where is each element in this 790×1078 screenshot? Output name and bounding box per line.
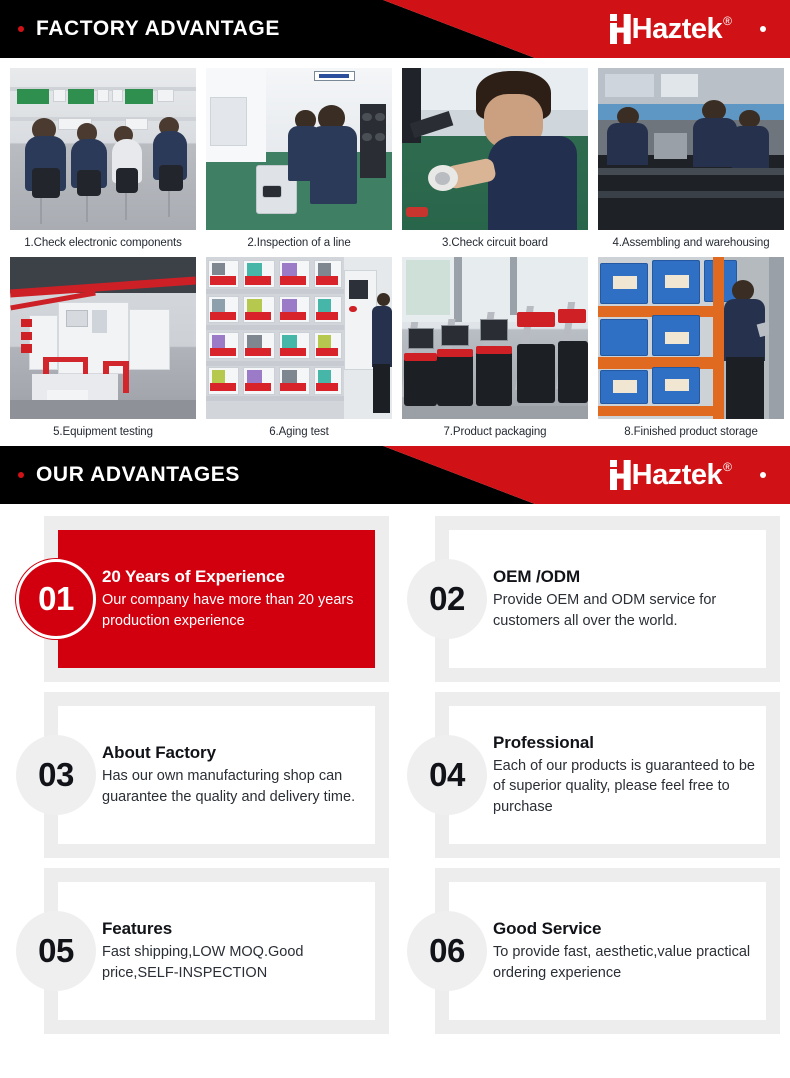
advantage-card-04[interactable]: 04 Professional Each of our products is … [401, 692, 780, 858]
photo-caption: 3.Check circuit board [402, 230, 588, 257]
photo-caption: 6.Aging test [206, 419, 392, 446]
card-text: 20 Years of Experience Our company have … [102, 567, 374, 631]
card-description: Each of our products is guaranteed to be… [493, 756, 765, 818]
advantage-number-badge: 03 [16, 735, 96, 815]
card-description: To provide fast, aesthetic,value practic… [493, 942, 765, 983]
card-title: Good Service [493, 919, 765, 939]
photo-cell: 5.Equipment testing [10, 257, 196, 446]
registered-mark-icon: ® [723, 15, 732, 27]
card-text: Professional Each of our products is gua… [493, 733, 765, 818]
card-text: Features Fast shipping,LOW MOQ.Good pric… [102, 919, 374, 983]
bullet-right-icon [760, 472, 766, 478]
card-text: Good Service To provide fast, aesthetic,… [493, 919, 765, 983]
page-title: FACTORY ADVANTAGE [36, 17, 280, 41]
logo-dot-icon [610, 14, 617, 21]
photo-row: 5.Equipment testing [10, 257, 780, 446]
photo-circuit-board-check[interactable] [402, 68, 588, 230]
advantage-number-badge: 06 [407, 911, 487, 991]
photo-cell: 2.Inspection of a line [206, 68, 392, 257]
card-title: OEM /ODM [493, 567, 765, 587]
card-description: Provide OEM and ODM service for customer… [493, 590, 765, 631]
photo-cell: 7.Product packaging [402, 257, 588, 446]
photo-caption: 7.Product packaging [402, 419, 588, 446]
photo-electronics-bench[interactable] [10, 68, 196, 230]
advantage-number-badge: 02 [407, 559, 487, 639]
haztek-logo: Haztek ® [610, 460, 732, 490]
advantage-number-badge: 04 [407, 735, 487, 815]
factory-advantage-page: FACTORY ADVANTAGE Haztek ® [0, 0, 790, 1078]
card-text: OEM /ODM Provide OEM and ODM service for… [493, 567, 765, 631]
photo-cell: 8.Finished product storage [598, 257, 784, 446]
photo-cell: 3.Check circuit board [402, 68, 588, 257]
photo-equipment-testing[interactable] [10, 257, 196, 419]
advantage-card-03[interactable]: 03 About Factory Has our own manufacturi… [10, 692, 389, 858]
advantage-number-badge: 01 [16, 559, 96, 639]
photo-caption: 2.Inspection of a line [206, 230, 392, 257]
section-title: OUR ADVANTAGES [36, 463, 240, 487]
registered-mark-icon: ® [723, 461, 732, 473]
photo-row: 1.Check electronic components [10, 68, 780, 257]
card-title: 20 Years of Experience [102, 567, 374, 587]
advantages-grid: 01 20 Years of Experience Our company ha… [0, 504, 790, 1044]
photo-product-packaging[interactable] [402, 257, 588, 419]
photo-caption: 5.Equipment testing [10, 419, 196, 446]
card-description: Fast shipping,LOW MOQ.Good price,SELF-IN… [102, 942, 374, 983]
advantage-row: 01 20 Years of Experience Our company ha… [10, 516, 780, 682]
bullet-icon [18, 472, 24, 478]
card-title: Professional [493, 733, 765, 753]
photo-cell: 4.Assembling and warehousing [598, 68, 784, 257]
advantage-card-05[interactable]: 05 Features Fast shipping,LOW MOQ.Good p… [10, 868, 389, 1034]
advantage-row: 03 About Factory Has our own manufacturi… [10, 692, 780, 858]
advantage-card-02[interactable]: 02 OEM /ODM Provide OEM and ODM service … [401, 516, 780, 682]
advantage-number-badge: 05 [16, 911, 96, 991]
bullet-right-icon [760, 26, 766, 32]
photo-cell: 1.Check electronic components [10, 68, 196, 257]
advantage-card-01[interactable]: 01 20 Years of Experience Our company ha… [10, 516, 389, 682]
bullet-icon [18, 26, 24, 32]
haztek-logo: Haztek ® [610, 14, 732, 44]
photo-assembling-warehousing[interactable] [598, 68, 784, 230]
logo-text: Haztek [632, 14, 723, 44]
card-description: Has our own manufacturing shop can guara… [102, 766, 374, 807]
photo-caption: 8.Finished product storage [598, 419, 784, 446]
banner-our-advantages: OUR ADVANTAGES Haztek ® [0, 446, 790, 504]
banner-factory-advantage: FACTORY ADVANTAGE Haztek ® [0, 0, 790, 58]
factory-photo-grid: 1.Check electronic components [0, 58, 790, 446]
card-title: Features [102, 919, 374, 939]
card-description: Our company have more than 20 years prod… [102, 590, 374, 631]
photo-caption: 1.Check electronic components [10, 230, 196, 257]
photo-aging-test[interactable] [206, 257, 392, 419]
photo-line-inspection[interactable] [206, 68, 392, 230]
photo-cell: 6.Aging test [206, 257, 392, 446]
card-text: About Factory Has our own manufacturing … [102, 743, 374, 807]
photo-finished-product-storage[interactable] [598, 257, 784, 419]
logo-text: Haztek [632, 460, 723, 490]
advantage-row: 05 Features Fast shipping,LOW MOQ.Good p… [10, 868, 780, 1034]
logo-dot-icon [610, 460, 617, 467]
card-title: About Factory [102, 743, 374, 763]
logo-h-glyph-icon [610, 460, 631, 490]
advantage-card-06[interactable]: 06 Good Service To provide fast, aesthet… [401, 868, 780, 1034]
logo-h-glyph-icon [610, 14, 631, 44]
photo-caption: 4.Assembling and warehousing [598, 230, 784, 257]
